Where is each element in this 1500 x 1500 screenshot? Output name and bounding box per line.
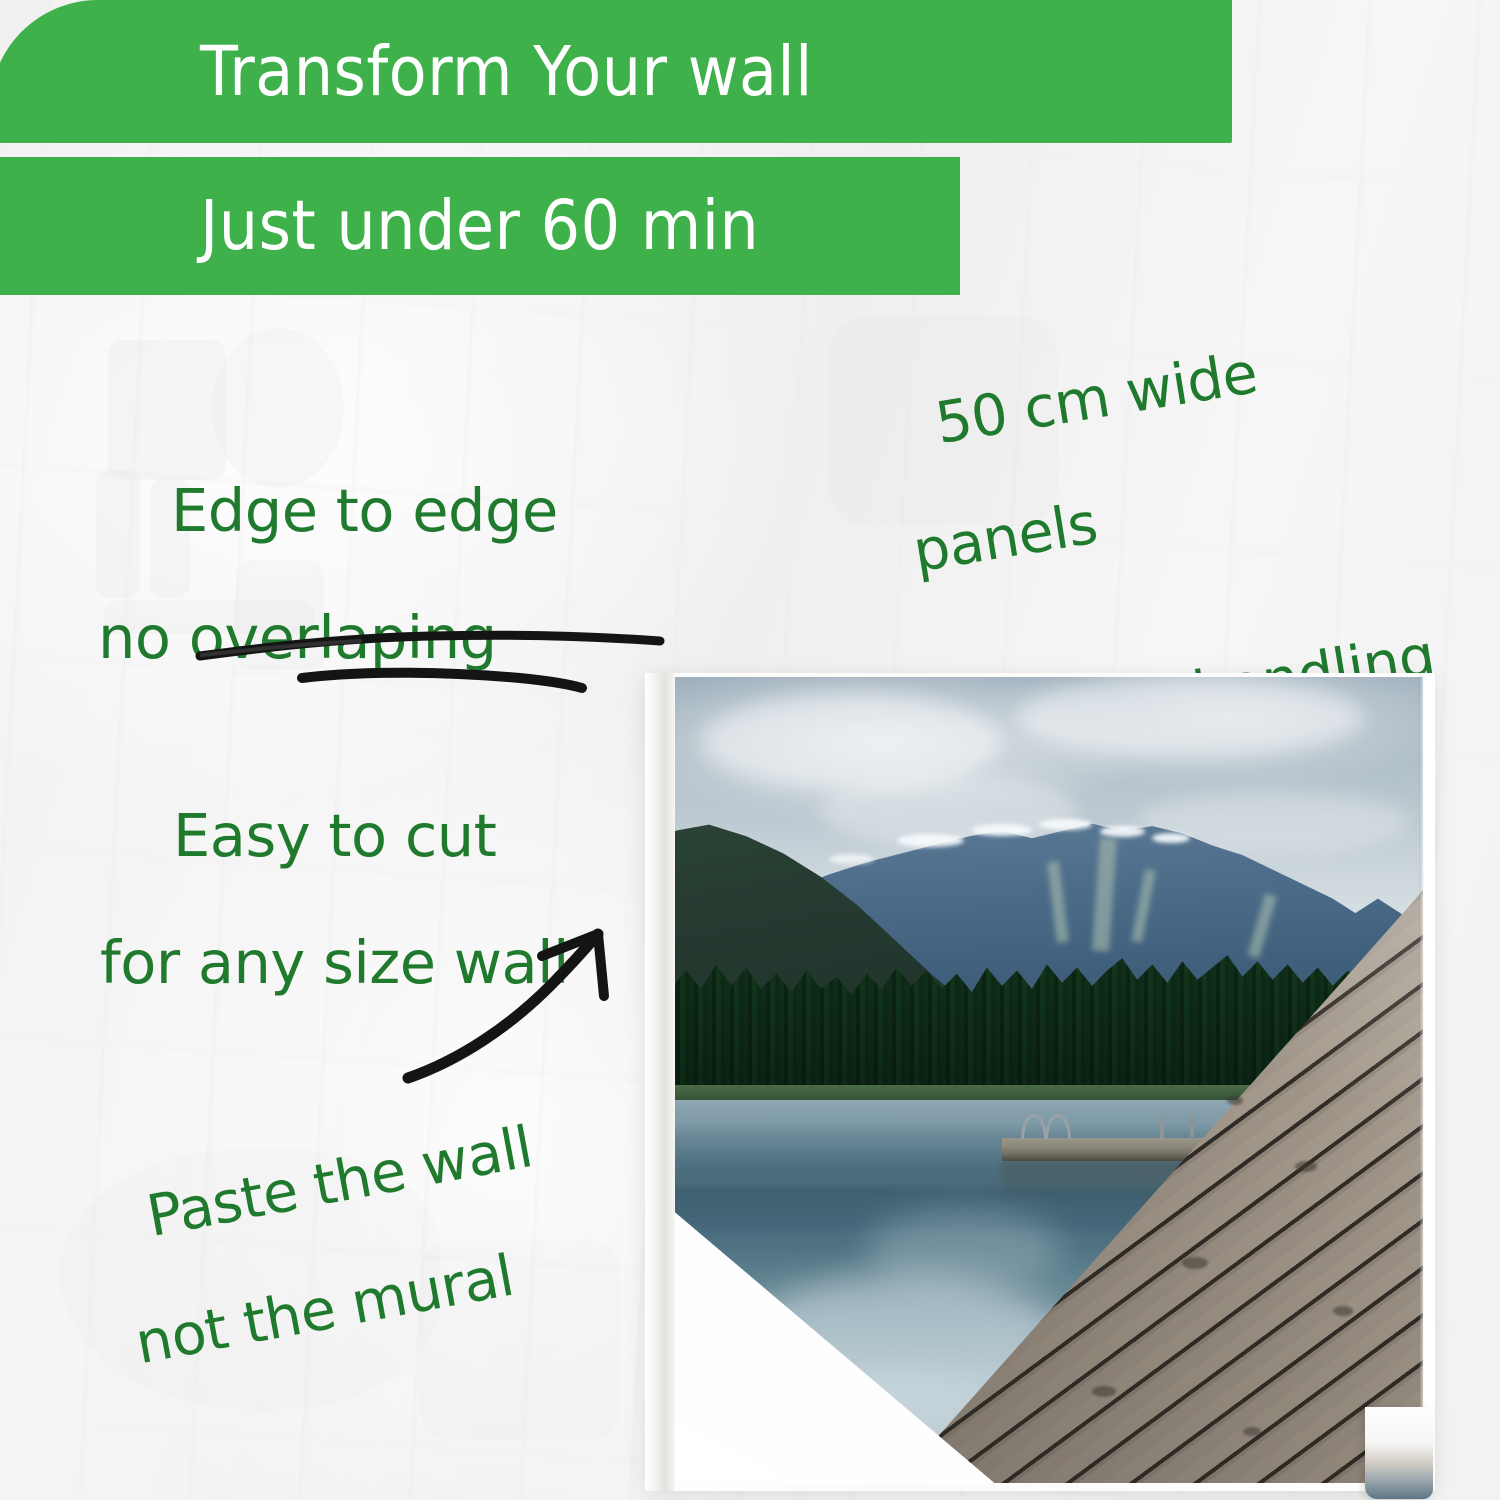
- roll-bottom-tube: [1365, 1407, 1433, 1499]
- roll-left-edge: [645, 673, 675, 1491]
- wallpaper-roll: [645, 655, 1435, 1495]
- dock-post: [1160, 1117, 1164, 1138]
- feature-caption-edge-line2: no overlaping: [98, 606, 558, 670]
- snow-patch: [1152, 833, 1190, 843]
- roll-right-edge: [1419, 673, 1435, 1491]
- feature-caption-panel-line2: panels: [909, 443, 1409, 583]
- wood-knot: [1295, 1161, 1317, 1172]
- feature-caption-paste-line2: not the mural: [131, 1238, 559, 1376]
- snow-patch: [897, 834, 965, 847]
- headline-banner-primary-text: Transform Your wall: [200, 32, 813, 112]
- feature-caption-panel-line1: 50 cm wide: [931, 340, 1262, 457]
- dock-post: [1190, 1115, 1194, 1137]
- cloud: [1017, 677, 1363, 758]
- snow-patch: [1039, 819, 1092, 830]
- headline-banner-primary: Transform Your wall: [0, 0, 1232, 143]
- headline-banner-secondary-text: Just under 60 min: [200, 186, 759, 266]
- infographic-canvas: Transform Your wall Just under 60 min Ed…: [0, 0, 1500, 1500]
- headline-banner-secondary: Just under 60 min: [0, 157, 960, 295]
- wood-knot: [1333, 1306, 1353, 1316]
- feature-caption-cut-line2: for any size wall: [100, 931, 569, 995]
- feature-caption-cut-line1: Easy to cut: [173, 801, 496, 870]
- snow-patch: [829, 854, 874, 864]
- snow-patch: [972, 824, 1032, 836]
- snow-patch: [1100, 826, 1145, 836]
- wood-knot: [1243, 1427, 1261, 1436]
- feature-caption-paste-line1: Paste the wall: [142, 1114, 537, 1250]
- feature-caption-edge-line1: Edge to edge: [171, 476, 558, 545]
- cloud-reflection: [867, 1209, 1063, 1290]
